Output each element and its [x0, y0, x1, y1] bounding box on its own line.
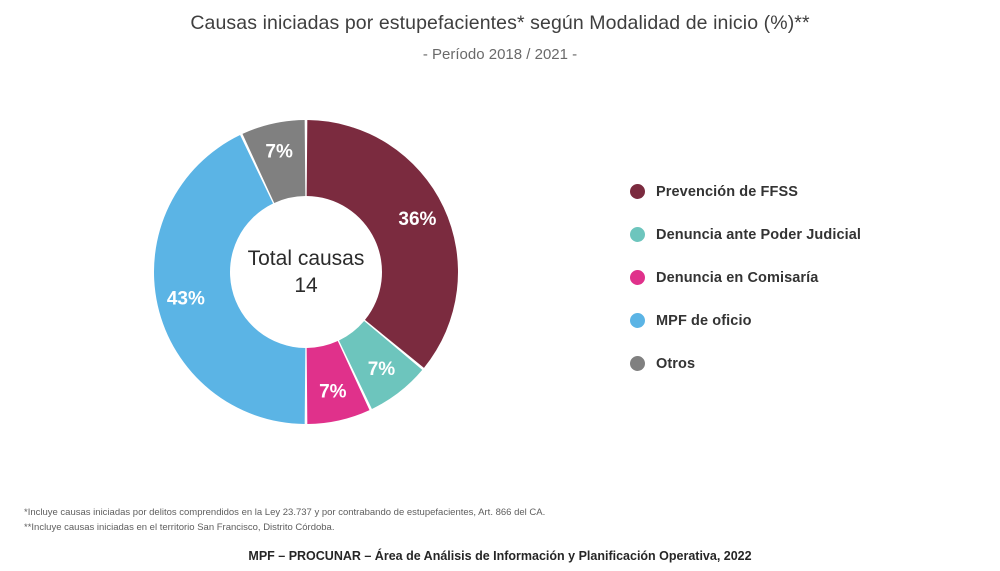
legend-item-label: Prevención de FFSS	[656, 184, 798, 200]
chart-subtitle: - Período 2018 / 2021 -	[0, 44, 1000, 66]
donut-chart-svg: 36%7%7%43%7%	[154, 120, 458, 424]
legend-item-label: Denuncia en Comisaría	[656, 270, 818, 286]
donut-slice-label: 43%	[167, 288, 205, 309]
donut-slice-label: 7%	[265, 141, 293, 162]
donut-slice-label: 36%	[398, 209, 436, 230]
legend-item[interactable]: MPF de oficio	[630, 299, 960, 342]
footnote: *Incluye causas iniciadas por delitos co…	[24, 505, 724, 520]
legend-item-label: Otros	[656, 356, 695, 372]
legend-swatch-icon	[630, 227, 645, 242]
footnotes: *Incluye causas iniciadas por delitos co…	[24, 505, 724, 535]
legend-item[interactable]: Denuncia en Comisaría	[630, 256, 960, 299]
legend-item-label: MPF de oficio	[656, 313, 752, 329]
donut-slice-group	[154, 120, 458, 424]
legend-item[interactable]: Denuncia ante Poder Judicial	[630, 213, 960, 256]
legend-swatch-icon	[630, 270, 645, 285]
legend-item-label: Denuncia ante Poder Judicial	[656, 227, 861, 243]
donut-slice-label: 7%	[319, 382, 347, 403]
donut-slice-label: 7%	[368, 359, 396, 380]
legend-swatch-icon	[630, 184, 645, 199]
footnote: **Incluye causas iniciadas en el territo…	[24, 520, 724, 535]
legend-item[interactable]: Prevención de FFSS	[630, 170, 960, 213]
legend-item[interactable]: Otros	[630, 342, 960, 385]
legend-swatch-icon	[630, 356, 645, 371]
donut-chart: 36%7%7%43%7% Total causas 14	[154, 120, 458, 424]
title-block: Causas iniciadas por estupefacientes* se…	[0, 10, 1000, 66]
donut-slice[interactable]	[307, 120, 458, 368]
page-title: Causas iniciadas por estupefacientes* se…	[0, 10, 1000, 36]
chart-legend: Prevención de FFSSDenuncia ante Poder Ju…	[630, 170, 960, 385]
source-attribution: MPF – PROCUNAR – Área de Análisis de Inf…	[0, 549, 1000, 563]
legend-swatch-icon	[630, 313, 645, 328]
